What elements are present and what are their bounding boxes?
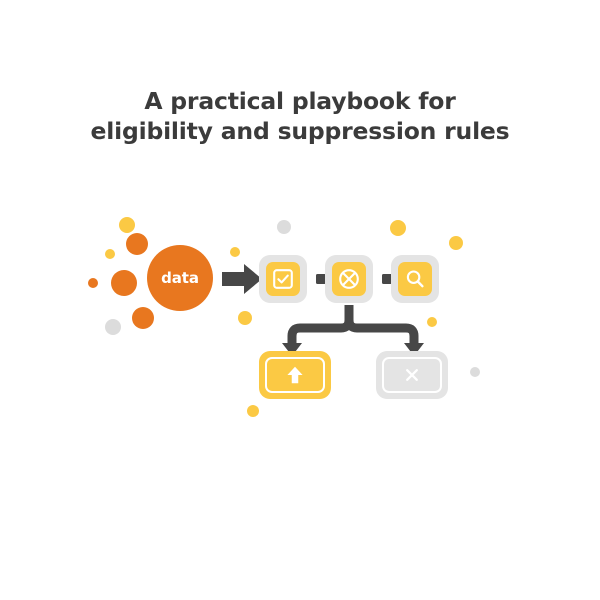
circle-x-icon: [337, 267, 361, 291]
checkbox-checked-icon: [271, 267, 295, 291]
stage-eligibility-check-tile: [266, 262, 300, 296]
stage-suppression-rule-tile: [332, 262, 366, 296]
outcome-reject-frame: [382, 357, 442, 393]
illustration-canvas: A practical playbook for eligibility and…: [0, 0, 600, 600]
arrow-up-icon: [282, 362, 308, 388]
outcome-reject[interactable]: [376, 351, 448, 399]
outcome-accept-frame: [265, 357, 325, 393]
outcome-accept[interactable]: [259, 351, 331, 399]
close-x-icon: [400, 363, 424, 387]
stage-eligibility-check[interactable]: [259, 255, 307, 303]
stage-review-lookup[interactable]: [391, 255, 439, 303]
magnifier-icon: [403, 267, 427, 291]
stage-review-lookup-tile: [398, 262, 432, 296]
fork-branch-connector: [282, 305, 424, 356]
arrow-right-icon: [222, 264, 262, 294]
stage-suppression-rule[interactable]: [325, 255, 373, 303]
